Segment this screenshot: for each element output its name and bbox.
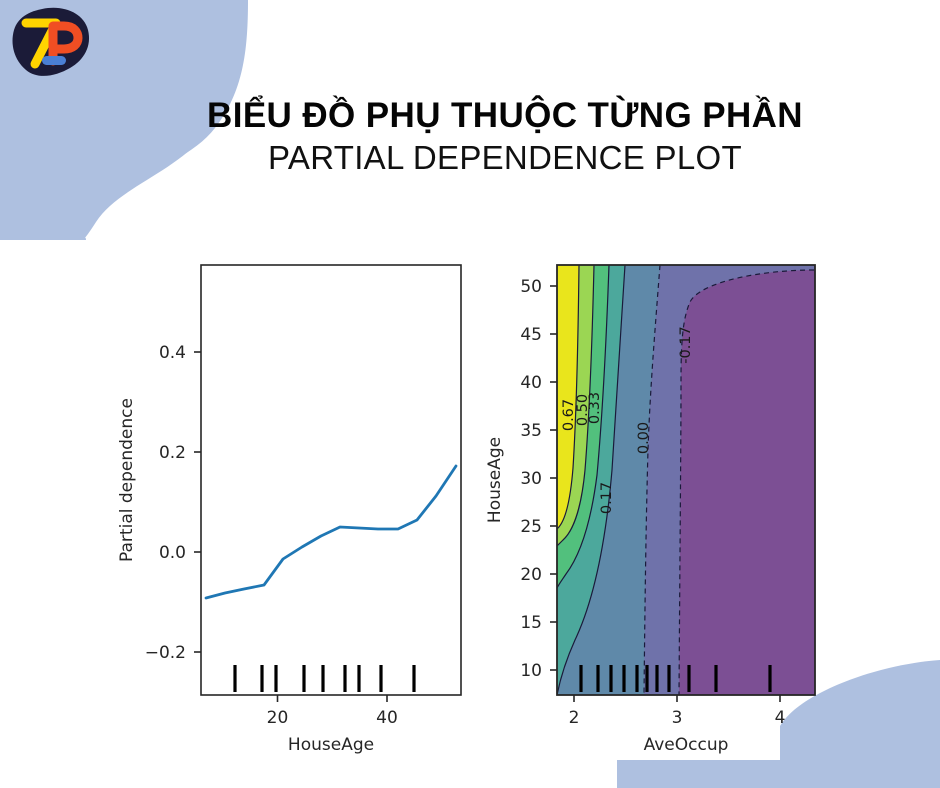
left-xtick-label-40: 40 [376,708,398,728]
right-x-ticks [574,695,780,702]
left-x-ticks [278,695,388,702]
left-ytick-label-2: 0.0 [159,543,186,563]
partial-dependence-figure: 0.4 0.2 0.0 −0.2 Partial dependence 20 4… [0,240,940,780]
right-ytick-label-10: 10 [520,661,542,681]
contour-label-033: 0.33 [587,392,603,424]
right-ytick-label-50: 50 [520,277,542,297]
right-ytick-label-45: 45 [520,325,542,345]
right-xtick-label-3: 3 [672,708,683,728]
left-y-axis-title: Partial dependence [117,398,137,562]
right-x-axis-title: AveOccup [644,735,729,755]
page-subtitle: PARTIAL DEPENDENCE PLOT [110,139,900,177]
right-ytick-label-15: 15 [520,613,542,633]
logo-bar [42,56,66,65]
left-panel-line-chart: 0.4 0.2 0.0 −0.2 Partial dependence 20 4… [117,265,461,755]
left-axes-frame [201,265,461,695]
right-ytick-label-35: 35 [520,421,542,441]
left-ytick-label-3: −0.2 [145,643,186,663]
contour-label-000: 0.00 [636,422,652,454]
right-xtick-label-4: 4 [775,708,786,728]
right-ytick-label-30: 30 [520,469,542,489]
page-title: BIỂU ĐỒ PHỤ THUỘC TỪNG PHẦN [110,96,900,135]
left-y-ticks [194,352,201,652]
right-xtick-label-2: 2 [569,708,580,728]
right-ytick-label-40: 40 [520,373,542,393]
contour-label-017: 0.17 [599,482,615,514]
7p-logo [8,6,92,80]
right-ytick-label-20: 20 [520,565,542,585]
contour-label-neg017: -0.17 [678,326,694,364]
right-y-ticks [550,286,557,670]
left-xtick-label-20: 20 [267,708,289,728]
title-block: BIỂU ĐỒ PHỤ THUỘC TỪNG PHẦN PARTIAL DEPE… [110,96,900,177]
left-ytick-label-0: 0.4 [159,343,186,363]
left-x-axis-title: HouseAge [288,735,374,755]
slide-canvas: BIỂU ĐỒ PHỤ THUỘC TỪNG PHẦN PARTIAL DEPE… [0,0,940,788]
right-ytick-label-25: 25 [520,517,542,537]
left-ytick-label-1: 0.2 [159,443,186,463]
right-y-axis-title: HouseAge [485,437,505,523]
right-panel-contour-chart: 0.67 0.50 0.33 0.17 0.00 -0.17 [485,265,815,755]
